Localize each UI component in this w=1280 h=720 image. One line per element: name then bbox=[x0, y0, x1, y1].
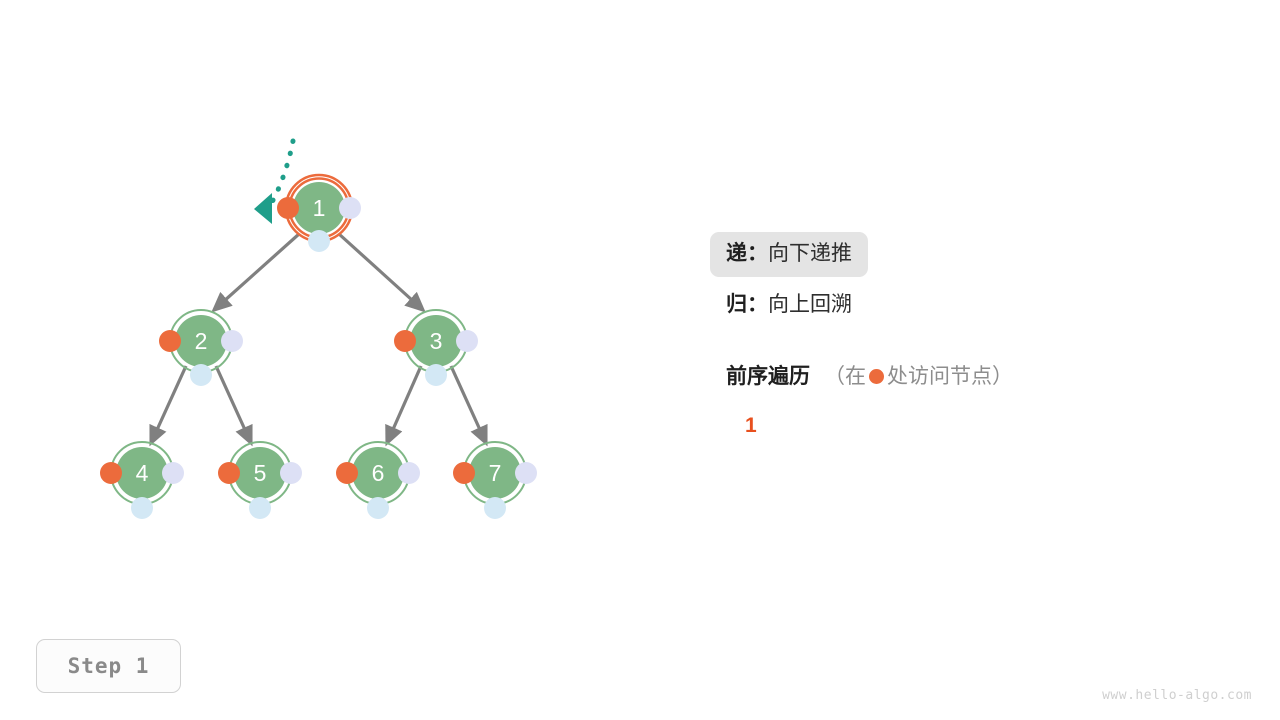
node-3-postorder-dot bbox=[425, 364, 447, 386]
watermark: www.hello-algo.com bbox=[1102, 688, 1252, 703]
node-3-inorder-dot bbox=[456, 330, 478, 352]
edge-3-6 bbox=[387, 366, 421, 443]
node-4-preorder-dot bbox=[100, 462, 122, 484]
node-2-inorder-dot bbox=[221, 330, 243, 352]
tree-node-2[interactable]: 2 bbox=[159, 310, 243, 386]
edge-3-7 bbox=[451, 366, 486, 443]
node-6-preorder-dot bbox=[336, 462, 358, 484]
legend-return-value: 向上回溯 bbox=[768, 293, 852, 316]
legend-row-return: 归：向上回溯 bbox=[710, 283, 868, 328]
node-1-postorder-dot bbox=[308, 230, 330, 252]
node-5-label: 5 bbox=[254, 460, 267, 486]
tree-node-6[interactable]: 6 bbox=[336, 442, 420, 519]
node-4-postorder-dot bbox=[131, 497, 153, 519]
node-7-postorder-dot bbox=[484, 497, 506, 519]
tree-diagram: 1 2 3 4 5 bbox=[0, 0, 1280, 720]
tree-node-4[interactable]: 4 bbox=[100, 442, 184, 519]
node-6-postorder-dot bbox=[367, 497, 389, 519]
node-7-preorder-dot bbox=[453, 462, 475, 484]
step-badge-label: Step 1 bbox=[68, 654, 150, 678]
legend-recurse-value: 向下递推 bbox=[768, 242, 852, 265]
preorder-marker-icon bbox=[869, 369, 884, 384]
edge-2-4 bbox=[151, 366, 186, 443]
traversal-note-before: （在 bbox=[824, 365, 866, 388]
node-4-inorder-dot bbox=[162, 462, 184, 484]
traversal-heading: 前序遍历（在处访问节点） bbox=[726, 366, 1013, 387]
tree-node-7[interactable]: 7 bbox=[453, 442, 537, 519]
node-3-preorder-dot bbox=[394, 330, 416, 352]
node-5-postorder-dot bbox=[249, 497, 271, 519]
node-1-inorder-dot bbox=[339, 197, 361, 219]
traversal-title: 前序遍历 bbox=[726, 365, 810, 388]
edge-2-5 bbox=[216, 366, 251, 443]
node-6-inorder-dot bbox=[398, 462, 420, 484]
traversal-output: 1 bbox=[745, 414, 758, 438]
node-7-inorder-dot bbox=[515, 462, 537, 484]
legend-return-key: 归： bbox=[726, 293, 768, 316]
traversal-note-after: 处访问节点） bbox=[887, 365, 1013, 388]
node-2-preorder-dot bbox=[159, 330, 181, 352]
node-6-label: 6 bbox=[372, 460, 385, 486]
legend-row-recurse: 递：向下递推 bbox=[710, 232, 868, 277]
legend-recurse-key: 递： bbox=[726, 242, 768, 265]
legend-panel: 递：向下递推 归：向上回溯 前序遍历（在处访问节点） 1 bbox=[726, 232, 1246, 328]
node-1-label: 1 bbox=[313, 195, 326, 221]
node-2-label: 2 bbox=[195, 328, 208, 354]
edge-1-2 bbox=[214, 234, 299, 310]
node-5-preorder-dot bbox=[218, 462, 240, 484]
node-7-label: 7 bbox=[489, 460, 502, 486]
node-5-inorder-dot bbox=[280, 462, 302, 484]
pointer-arrowhead-icon bbox=[254, 193, 272, 224]
node-2-postorder-dot bbox=[190, 364, 212, 386]
edge-1-3 bbox=[339, 234, 423, 310]
node-3-label: 3 bbox=[430, 328, 443, 354]
node-4-label: 4 bbox=[136, 460, 149, 486]
node-1-preorder-dot bbox=[277, 197, 299, 219]
step-badge: Step 1 bbox=[36, 639, 181, 693]
tree-node-3[interactable]: 3 bbox=[394, 310, 478, 386]
tree-node-5[interactable]: 5 bbox=[218, 442, 302, 519]
